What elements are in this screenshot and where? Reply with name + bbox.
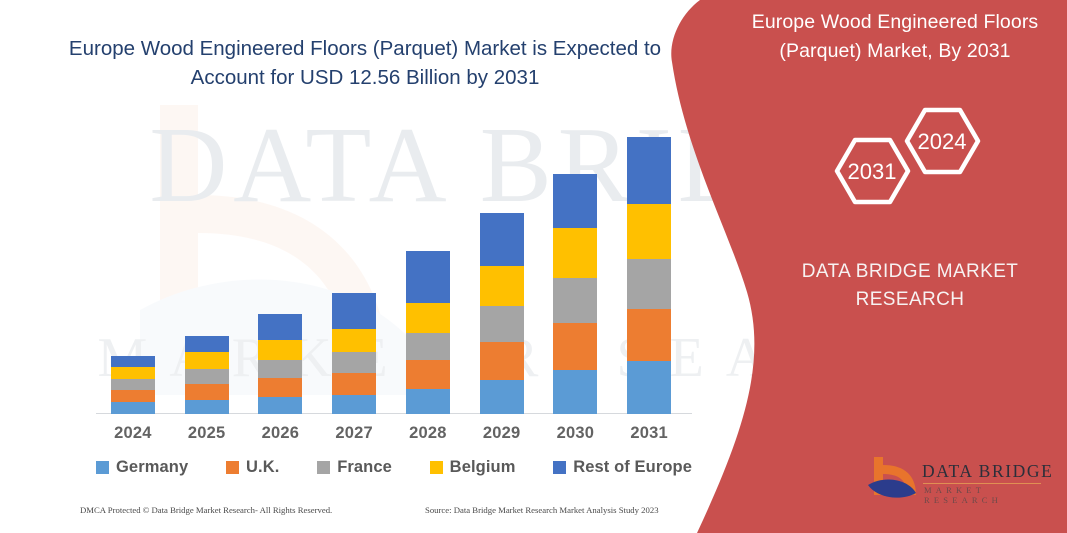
hexagon-pair-icon: 2024 2031 <box>820 98 1020 210</box>
bar-2026 <box>258 314 302 414</box>
bar-segment <box>111 390 155 402</box>
legend-item-belgium[interactable]: Belgium <box>430 458 516 477</box>
bar-segment <box>332 352 376 373</box>
panel-brand-text: DATA BRIDGE MARKET RESEARCH <box>770 258 1050 314</box>
bar-segment <box>627 361 671 414</box>
footer-source: Source: Data Bridge Market Research Mark… <box>425 505 659 515</box>
bar-segment <box>111 356 155 367</box>
bar-segment <box>258 340 302 360</box>
bar-2030 <box>553 174 597 414</box>
bar-segment <box>480 266 524 306</box>
bar-segment <box>258 314 302 340</box>
bar-segment <box>332 329 376 352</box>
bar-segment <box>480 213 524 266</box>
bar-2028 <box>406 251 450 414</box>
hex-label-2031: 2031 <box>848 159 897 184</box>
year-hexagon-badges: 2024 2031 <box>820 98 1020 210</box>
x-tick-2027: 2027 <box>319 424 389 443</box>
bar-segment <box>627 259 671 309</box>
chart-region: 20242025202620272028202920302031 Germany… <box>0 0 700 533</box>
bar-segment <box>258 360 302 378</box>
logo-divider <box>923 483 1041 484</box>
legend-swatch-icon <box>430 461 443 474</box>
bar-segment <box>480 306 524 342</box>
x-tick-2025: 2025 <box>172 424 242 443</box>
bar-segment <box>406 360 450 389</box>
x-tick-2030: 2030 <box>540 424 610 443</box>
legend-item-u-k[interactable]: U.K. <box>226 458 279 477</box>
footer: DMCA Protected © Data Bridge Market Rese… <box>0 505 700 525</box>
bar-segment <box>480 342 524 380</box>
legend-label: Belgium <box>450 458 516 477</box>
bar-segment <box>406 303 450 333</box>
bar-segment <box>406 251 450 303</box>
bar-2024 <box>111 356 155 414</box>
bar-segment <box>406 389 450 414</box>
bar-segment <box>406 333 450 360</box>
bar-2029 <box>480 213 524 414</box>
logo-name-bottom: MARKET RESEARCH <box>924 485 1056 505</box>
x-tick-2026: 2026 <box>245 424 315 443</box>
bar-2027 <box>332 293 376 414</box>
footer-copyright: DMCA Protected © Data Bridge Market Rese… <box>80 505 332 515</box>
bar-segment <box>627 204 671 259</box>
bar-segment <box>553 174 597 228</box>
chart-legend: GermanyU.K.FranceBelgiumRest of Europe <box>96 455 692 479</box>
bar-segment <box>111 402 155 414</box>
bar-segment <box>332 293 376 329</box>
bar-segment <box>185 336 229 352</box>
bar-segment <box>627 137 671 204</box>
panel-title: Europe Wood Engineered Floors (Parquet) … <box>740 8 1050 66</box>
legend-swatch-icon <box>553 461 566 474</box>
x-axis-tick-labels: 20242025202620272028202920302031 <box>96 424 686 450</box>
bar-segment <box>185 352 229 369</box>
bar-2031 <box>627 137 671 414</box>
db-bridge-logo-icon <box>866 455 920 505</box>
x-tick-2024: 2024 <box>98 424 168 443</box>
legend-item-germany[interactable]: Germany <box>96 458 188 477</box>
bar-segment <box>258 397 302 414</box>
legend-label: France <box>337 458 392 477</box>
legend-label: Germany <box>116 458 188 477</box>
bar-segment <box>480 380 524 414</box>
bar-segment <box>332 373 376 395</box>
bar-segment <box>185 384 229 400</box>
stacked-bar-plot <box>96 120 686 414</box>
x-tick-2028: 2028 <box>393 424 463 443</box>
bar-segment <box>627 309 671 361</box>
legend-swatch-icon <box>317 461 330 474</box>
hex-label-2024: 2024 <box>918 129 967 154</box>
x-tick-2029: 2029 <box>467 424 537 443</box>
legend-swatch-icon <box>226 461 239 474</box>
logo-name-top: DATA BRIDGE <box>922 461 1053 482</box>
legend-swatch-icon <box>96 461 109 474</box>
bar-segment <box>185 400 229 414</box>
bar-segment <box>553 228 597 278</box>
legend-label: U.K. <box>246 458 279 477</box>
bar-segment <box>111 367 155 379</box>
bar-2025 <box>185 336 229 414</box>
bar-segment <box>553 323 597 370</box>
bar-segment <box>185 369 229 384</box>
legend-item-france[interactable]: France <box>317 458 392 477</box>
bar-segment <box>111 379 155 390</box>
bar-segment <box>332 395 376 414</box>
bar-segment <box>553 278 597 323</box>
bar-segment <box>553 370 597 414</box>
data-bridge-logo: DATA BRIDGE MARKET RESEARCH <box>866 455 1056 509</box>
bar-segment <box>258 378 302 397</box>
